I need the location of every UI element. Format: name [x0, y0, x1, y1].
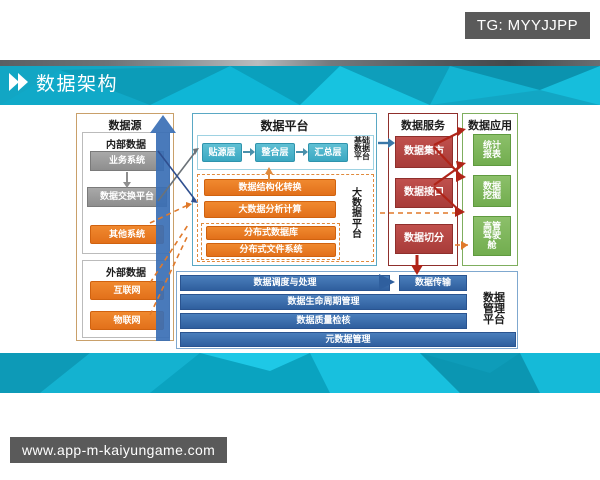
service-item-data-interface[interactable]: 数据接口 [395, 178, 453, 208]
slide-header: 数据架构 [0, 60, 600, 105]
slide-page: TG: MYYJJPP www.app-m-kaiyungame.com [0, 0, 600, 480]
data-source-title: 数据源 [77, 117, 173, 133]
url-watermark: www.app-m-kaiyungame.com [10, 437, 227, 463]
diagram-canvas: 数据源 内部数据 业务系统 数据交换平台 其他系统 外部数据 互联网 物联网 [0, 105, 600, 353]
service-item-data-mart[interactable]: 数据集市 [395, 136, 453, 168]
app-item-statistics-report[interactable]: 统计报表 [473, 134, 511, 166]
app-item-executive-cockpit[interactable]: 高管驾驶舱 [473, 216, 511, 256]
footer-polygon-bg [0, 353, 600, 393]
data-service-panel: 数据服务 数据集市 数据接口 数据切分 [388, 113, 458, 266]
data-application-title: 数据应用 [463, 117, 517, 133]
slide-title: 数据架构 [36, 69, 118, 96]
presentation-slide: 数据架构 数据源 内部数据 业务系统 数据交换平台 其他系统 外部数 [0, 60, 600, 393]
internal-down-arrow [83, 133, 171, 255]
service-item-data-partition[interactable]: 数据切分 [395, 224, 453, 254]
mgmt-band-scheduling[interactable]: 数据调度与处理 [180, 275, 390, 291]
data-service-title: 数据服务 [389, 117, 457, 133]
header-top-strip [0, 60, 600, 66]
source-item-iot[interactable]: 物联网 [90, 311, 164, 330]
internal-data-group: 内部数据 业务系统 数据交换平台 其他系统 [82, 132, 170, 254]
mgmt-band-lifecycle[interactable]: 数据生命周期管理 [180, 294, 467, 310]
data-management-panel: 数据调度与处理 数据传输 数据生命周期管理 数据质量检核 元数据管理 数据管理平… [176, 271, 518, 349]
source-item-internet[interactable]: 互联网 [90, 281, 164, 300]
mgmt-band-transfer[interactable]: 数据传输 [399, 275, 467, 291]
app-item-data-mining[interactable]: 数据挖掘 [473, 175, 511, 207]
double-triangle-play-icon [8, 71, 30, 93]
telegram-watermark: TG: MYYJJPP [465, 12, 590, 39]
data-application-panel: 数据应用 统计报表 数据挖掘 高管驾驶舱 [462, 113, 518, 266]
data-management-label: 数据管理平台 [473, 293, 515, 327]
data-source-panel: 数据源 内部数据 业务系统 数据交换平台 其他系统 外部数据 互联网 物联网 [76, 113, 174, 341]
mgmt-band-quality[interactable]: 数据质量检核 [180, 313, 467, 329]
external-data-group: 外部数据 互联网 物联网 [82, 260, 170, 338]
platform-up-arrow [193, 114, 378, 267]
external-data-title: 外部数据 [83, 264, 169, 279]
slide-footer-strip [0, 353, 600, 393]
data-platform-panel: 数据平台 贴源层 整合层 汇总层 基础数据平台 数据结构化 [192, 113, 377, 266]
mgmt-band-metadata[interactable]: 元数据管理 [180, 332, 516, 347]
